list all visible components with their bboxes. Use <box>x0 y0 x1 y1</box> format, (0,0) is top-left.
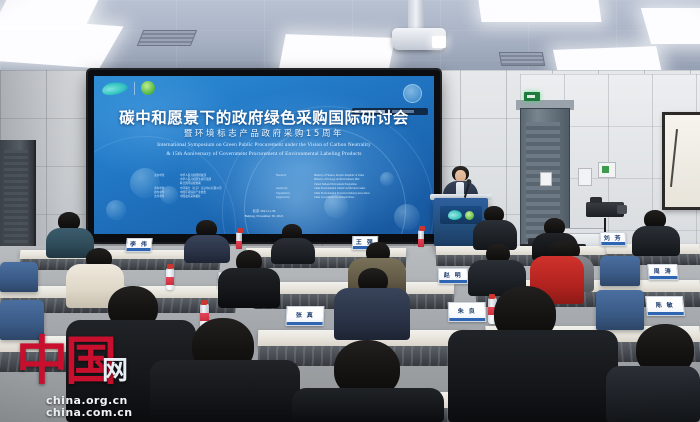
water-bottle <box>236 232 242 248</box>
conference-room-photo: 碳中和愿景下的政府绿色采购国际研讨会 暨环境标志产品政府采购15周年 Inter… <box>0 0 700 422</box>
person-torso <box>632 226 680 256</box>
name-tent-text: 刘 芳 <box>604 236 623 242</box>
name-tent-text: 李 伟 <box>130 242 149 248</box>
podium-green-dot-icon <box>465 211 474 220</box>
screen-title-en-line1: International Symposium on Green Public … <box>94 142 434 148</box>
projector-lens <box>432 36 446 48</box>
person-torso <box>606 366 700 422</box>
screen-logo-group-left <box>102 81 155 95</box>
person-torso <box>150 360 300 422</box>
credit-label: Supported by <box>276 196 310 200</box>
swoosh-logo-icon <box>101 80 129 96</box>
name-tent: 周 涛 <box>647 264 678 280</box>
name-tent: 刘 芳 <box>600 232 627 246</box>
screen-title-en-line2: & 15th Anniversary of Government Procure… <box>94 151 434 157</box>
air-vent <box>137 30 197 46</box>
person-torso <box>184 235 230 263</box>
screen-title-cn: 碳中和愿景下的政府绿色采购国际研讨会 <box>94 106 434 128</box>
name-tent-text: 张 真 <box>296 313 315 319</box>
green-circle-eco-logo-icon <box>141 81 155 95</box>
person-torso <box>292 388 444 422</box>
screen-subtitle-cn: 暨环境标志产品政府采购15周年 <box>94 127 434 139</box>
credit-value: 中国政府采购报社 <box>180 195 264 199</box>
name-tent: 赵 明 <box>438 268 469 284</box>
credit-label: 支持单位 <box>154 195 176 199</box>
chair <box>600 256 640 286</box>
framed-painting <box>662 112 700 210</box>
person-torso <box>218 268 280 308</box>
screen-date-en: Beijing, November 30, 2021 <box>94 214 434 219</box>
name-tent: 李 伟 <box>125 238 152 252</box>
chair <box>0 300 44 340</box>
chair <box>0 262 38 292</box>
logo-divider <box>134 82 135 95</box>
person-torso <box>448 330 618 422</box>
desk-row <box>436 246 606 255</box>
ceiling-light-panel <box>0 0 98 26</box>
name-tent: 张 真 <box>285 306 324 326</box>
exit-sign-icon <box>524 92 540 101</box>
name-tent-text: 周 涛 <box>654 269 673 275</box>
screen-date-block: 北京 2021.11.30 Beijing, November 30, 2021 <box>94 209 434 219</box>
air-vent <box>499 52 545 66</box>
water-bottle <box>166 268 174 290</box>
name-tent-text: 赵 明 <box>444 273 463 279</box>
person-torso <box>334 288 410 340</box>
name-tent-text: 陈 敏 <box>656 303 675 309</box>
projection-screen: 碳中和愿景下的政府绿色采购国际研讨会 暨环境标志产品政府采购15周年 Inter… <box>94 76 434 234</box>
chair <box>596 290 644 330</box>
podium-swoosh-icon <box>448 210 462 220</box>
circular-emblem-logo-icon <box>403 84 422 103</box>
credit-value: China Government Procurement News <box>314 196 402 200</box>
name-tent-text: 朱 良 <box>458 309 477 315</box>
screen-credits-cn: 主办单位中华人民共和国财政部 中华人民共和国生态环境部 联合国环境规划署 承办单… <box>154 174 264 199</box>
wall-control-panel <box>598 162 616 178</box>
name-tent: 陈 敏 <box>645 296 685 316</box>
ceiling-light-panel <box>478 0 601 22</box>
podium-emblem <box>440 206 482 224</box>
wall-switch <box>578 168 592 186</box>
ceiling-light-panel <box>279 34 395 72</box>
name-tent: 朱 良 <box>448 302 487 322</box>
wall-switch <box>540 172 552 186</box>
screen-credits-en: Hosted byMinistry of Finance, People's R… <box>276 174 402 200</box>
ceiling-light-panel <box>641 8 700 44</box>
person-torso <box>271 238 315 264</box>
video-camera-icon <box>586 202 624 217</box>
water-bottle <box>418 230 424 246</box>
